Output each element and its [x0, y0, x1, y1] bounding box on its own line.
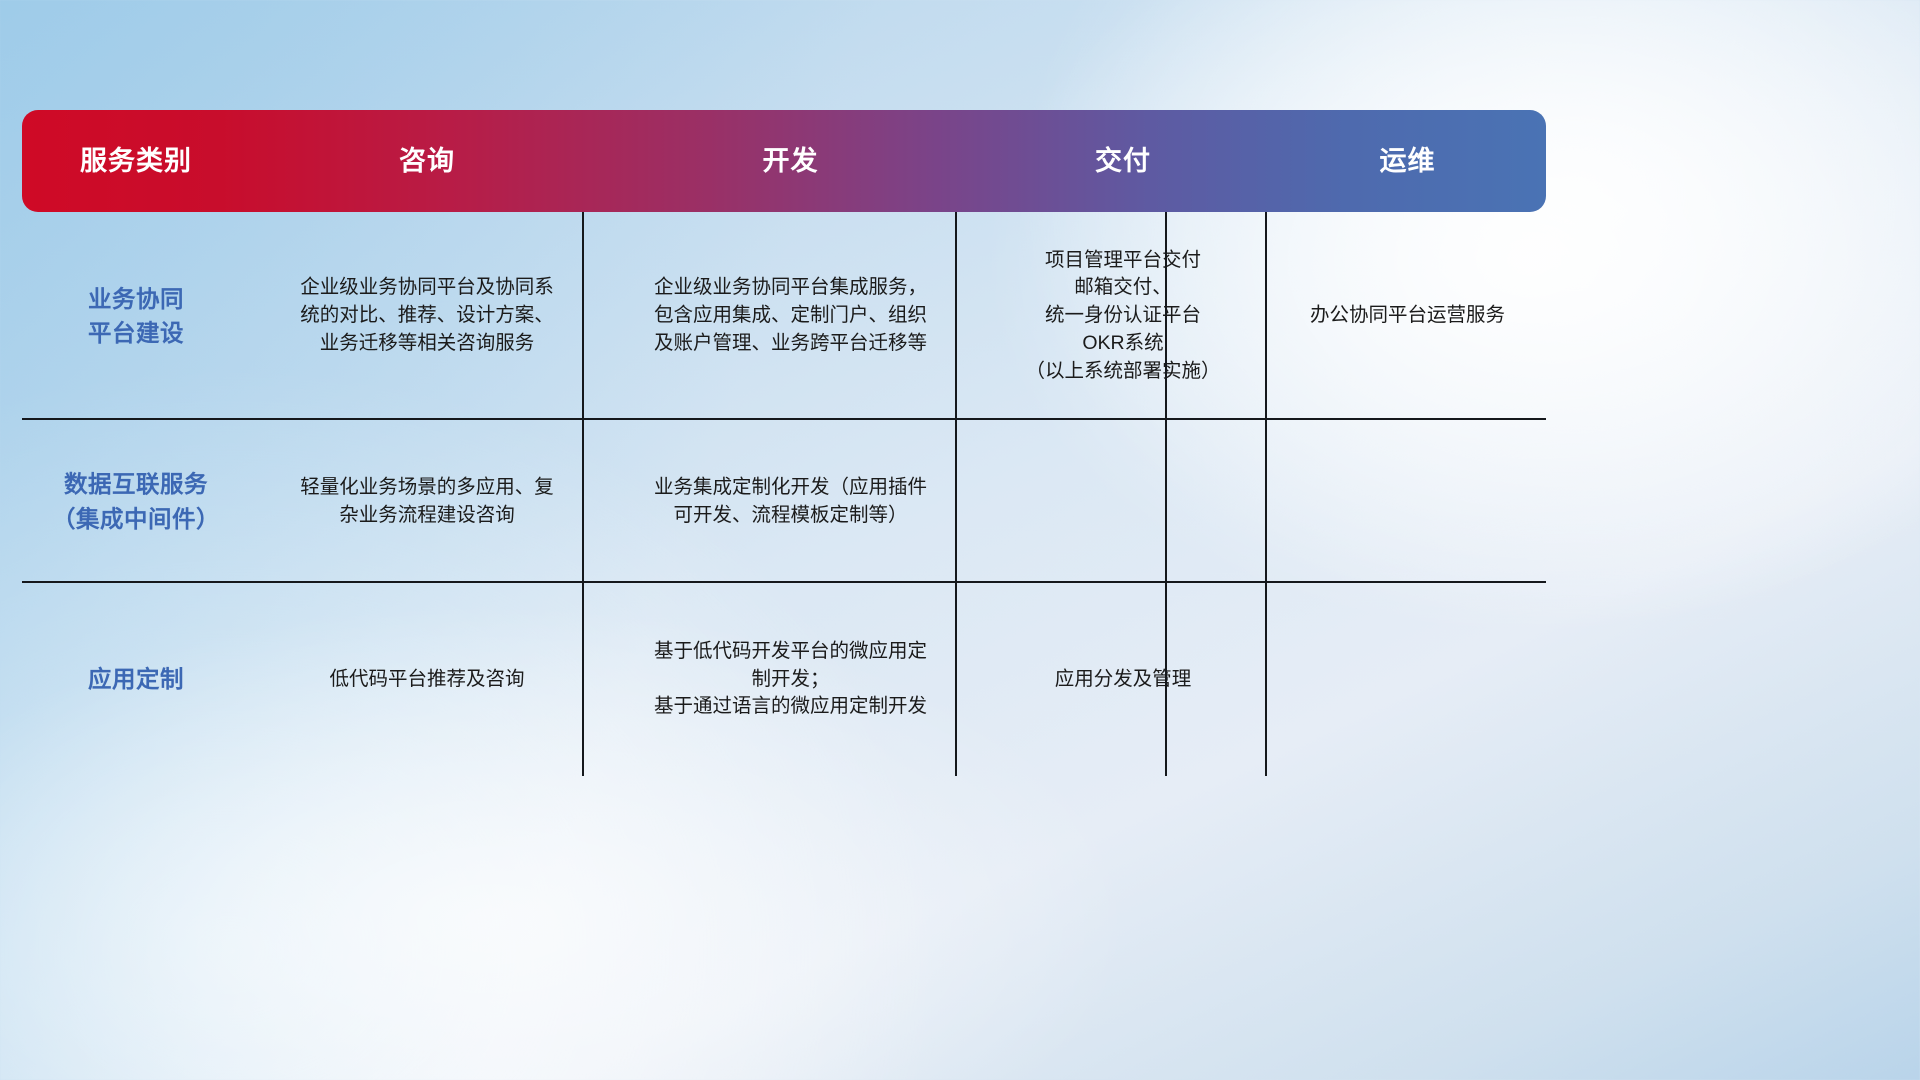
table-header-row: 服务类别 咨询 开发 交付 运维 [22, 110, 1546, 212]
cell-operations-1: 办公协同平台运营服务 [1269, 212, 1546, 420]
service-matrix-table: 服务类别 咨询 开发 交付 运维 业务协同 平台建设 企业级业务协同平台及协同系… [22, 110, 1546, 776]
cell-consulting-2: 轻量化业务场景的多应用、复 杂业务流程建设咨询 [250, 420, 604, 583]
cell-operations-2 [1269, 420, 1546, 583]
table-body: 业务协同 平台建设 企业级业务协同平台及协同系 统的对比、推荐、设计方案、 业务… [22, 212, 1546, 776]
cell-development-3: 基于低代码开发平台的微应用定 制开发； 基于通过语言的微应用定制开发 [604, 583, 977, 776]
cell-delivery-2 [977, 420, 1269, 583]
cell-operations-3 [1269, 583, 1546, 776]
cell-category-3: 应用定制 [22, 583, 250, 776]
column-header-consulting: 咨询 [250, 148, 604, 175]
column-header-development: 开发 [604, 148, 977, 175]
cell-delivery-1: 项目管理平台交付 邮箱交付、 统一身份认证平台 OKR系统 （以上系统部署实施） [977, 212, 1269, 420]
table-row: 业务协同 平台建设 企业级业务协同平台及协同系 统的对比、推荐、设计方案、 业务… [22, 212, 1546, 420]
column-header-delivery: 交付 [977, 148, 1269, 175]
table-row: 应用定制 低代码平台推荐及咨询 基于低代码开发平台的微应用定 制开发； 基于通过… [22, 583, 1546, 776]
column-header-operations: 运维 [1269, 148, 1546, 175]
grid-line-horizontal-1 [22, 418, 1546, 420]
grid-line-horizontal-2 [22, 581, 1546, 583]
column-header-service-category: 服务类别 [22, 148, 250, 175]
grid-line-vertical-3 [1165, 212, 1167, 776]
cell-category-2: 数据互联服务 （集成中间件） [22, 420, 250, 583]
cell-development-2: 业务集成定制化开发（应用插件 可开发、流程模板定制等） [604, 420, 977, 583]
grid-line-vertical-1 [582, 212, 584, 776]
cell-development-1: 企业级业务协同平台集成服务， 包含应用集成、定制门户、组织 及账户管理、业务跨平… [604, 212, 977, 420]
cell-consulting-1: 企业级业务协同平台及协同系 统的对比、推荐、设计方案、 业务迁移等相关咨询服务 [250, 212, 604, 420]
cell-delivery-3: 应用分发及管理 [977, 583, 1269, 776]
grid-line-vertical-4 [1265, 212, 1267, 776]
table-row: 数据互联服务 （集成中间件） 轻量化业务场景的多应用、复 杂业务流程建设咨询 业… [22, 420, 1546, 583]
cell-category-1: 业务协同 平台建设 [22, 212, 250, 420]
grid-line-vertical-2 [955, 212, 957, 776]
cell-consulting-3: 低代码平台推荐及咨询 [250, 583, 604, 776]
